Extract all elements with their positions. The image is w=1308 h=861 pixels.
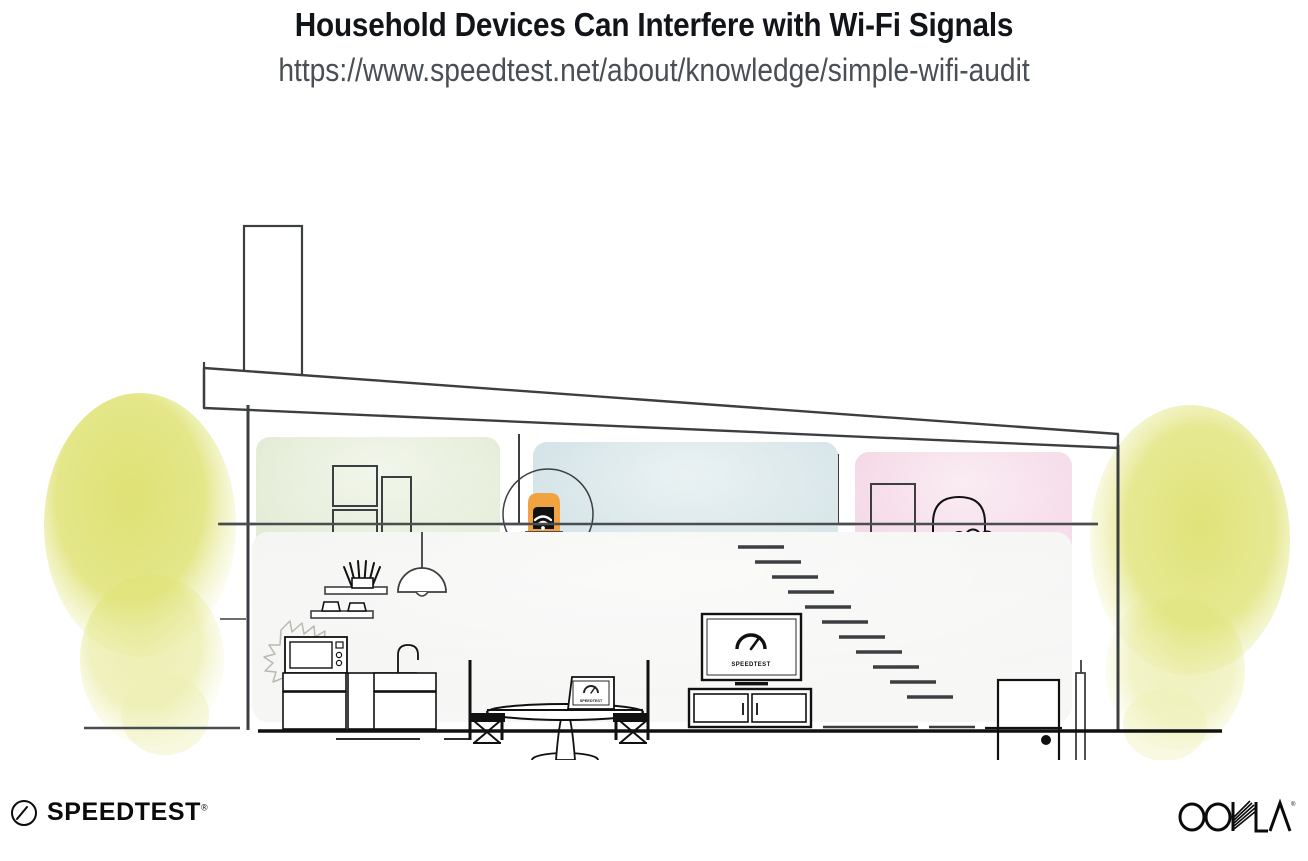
window [1076, 660, 1085, 760]
source-url: https://www.speedtest.net/about/knowledg… [78, 52, 1229, 89]
ookla-k-glyph [1233, 801, 1256, 831]
svg-text:SPEEDTEST: SPEEDTEST [731, 662, 770, 668]
media-console [689, 689, 811, 727]
door-knob [1041, 735, 1051, 745]
laptop-dining-table[interactable]: SPEEDTEST [568, 677, 614, 709]
svg-text:SPEEDTEST: SPEEDTEST [580, 699, 603, 703]
footer: SPEEDTEST® ® [0, 770, 1308, 861]
ookla-trademark: ® [1291, 801, 1296, 808]
tree-right [1090, 405, 1290, 760]
microwave[interactable] [285, 637, 347, 673]
poster-canvas: Household Devices Can Interfere with Wi-… [0, 0, 1308, 861]
speedtest-wordmark: SPEEDTEST® [47, 798, 208, 827]
speedtest-trademark: ® [201, 803, 208, 813]
chimney [244, 226, 302, 378]
ookla-logo[interactable]: ® [1176, 796, 1296, 838]
roof-slab [204, 362, 1118, 448]
speedtest-logo[interactable]: SPEEDTEST® [10, 798, 208, 827]
room-ground-floor: SPEEDTEST [252, 532, 1085, 760]
speedtest-wordmark-text: SPEEDTEST [47, 798, 201, 826]
tree-left [44, 393, 236, 755]
page-title: Household Devices Can Interfere with Wi-… [65, 6, 1242, 44]
house-cutaway-illustration: SPEEDTEST [0, 100, 1308, 760]
header: Household Devices Can Interfere with Wi-… [0, 0, 1308, 110]
speedtest-gauge-icon [10, 799, 38, 827]
television[interactable]: SPEEDTEST [702, 614, 801, 685]
